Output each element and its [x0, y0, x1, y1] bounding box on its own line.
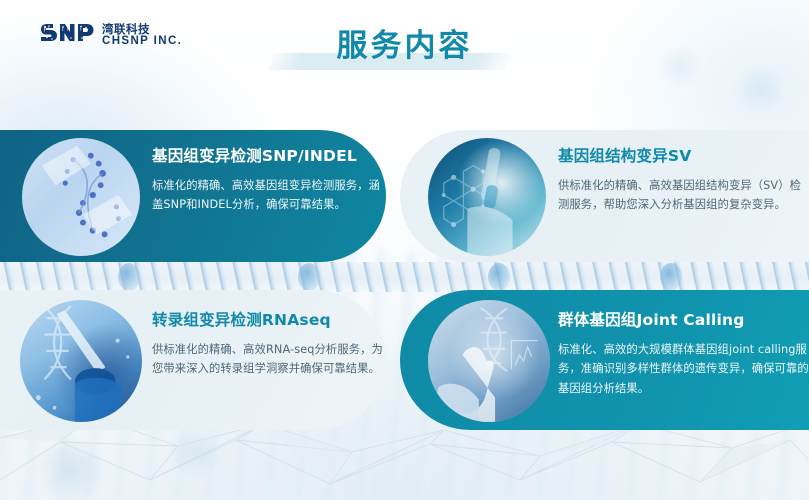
card-body: 群体基因组Joint Calling 标准化、高效的大规模群体基因组joint …	[558, 308, 809, 398]
test-tube-hand-photo	[428, 138, 546, 256]
touch-interface-dna-photo	[428, 300, 550, 422]
card-description: 标准化、高效的大规模群体基因组joint calling服务，准确识别多样性群体…	[558, 340, 809, 398]
service-card-rnaseq[interactable]: 转录组变异检测RNAseq 供标准化的精确、高效RNA-seq分析服务，为您带来…	[0, 290, 386, 430]
card-description: 供标准化的精确、高效基因组结构变异（SV）检测服务，帮助您深入分析基因组的复杂变…	[558, 176, 808, 215]
card-body: 基因组结构变异SV 供标准化的精确、高效基因组结构变异（SV）检测服务，帮助您深…	[558, 144, 808, 215]
card-title: 基因组结构变异SV	[558, 144, 808, 166]
card-title: 转录组变异检测RNAseq	[152, 308, 384, 330]
touch-dna-interface-icon	[428, 300, 550, 422]
card-description: 供标准化的精确、高效RNA-seq分析服务，为您带来深入的转录组学洞察并确保可靠…	[152, 340, 384, 379]
card-body: 转录组变异检测RNAseq 供标准化的精确、高效RNA-seq分析服务，为您带来…	[152, 308, 384, 379]
dna-helix-icon	[22, 138, 140, 256]
pipette-dna-photo	[20, 300, 142, 422]
stripe-blob-icon	[660, 263, 682, 291]
card-title: 基因组变异检测SNP/INDEL	[152, 144, 382, 166]
card-description: 标准化的精确、高效基因组变异检测服务，涵盖SNP和INDEL分析，确保可靠结果。	[152, 176, 382, 215]
stripe-blob-icon	[118, 263, 140, 291]
service-card-snp-indel[interactable]: 基因组变异检测SNP/INDEL 标准化的精确、高效基因组变异检测服务，涵盖SN…	[0, 130, 386, 262]
dna-gel-photo	[22, 138, 140, 256]
slide-root: 湾联科技 CHSNP INC. 服务内容	[0, 0, 809, 500]
service-card-structural-variation[interactable]: 基因组结构变异SV 供标准化的精确、高效基因组结构变异（SV）检测服务，帮助您深…	[400, 130, 809, 262]
stripe-blob-icon	[488, 263, 510, 291]
pipette-dna-icon	[20, 300, 142, 422]
hexagon-network-icon	[428, 138, 546, 256]
card-title: 群体基因组Joint Calling	[558, 308, 809, 330]
stripe-blob-icon	[298, 263, 320, 291]
service-card-joint-calling[interactable]: 群体基因组Joint Calling 标准化、高效的大规模群体基因组joint …	[400, 290, 809, 430]
page-title: 服务内容	[0, 20, 809, 65]
card-body: 基因组变异检测SNP/INDEL 标准化的精确、高效基因组变异检测服务，涵盖SN…	[152, 144, 382, 215]
